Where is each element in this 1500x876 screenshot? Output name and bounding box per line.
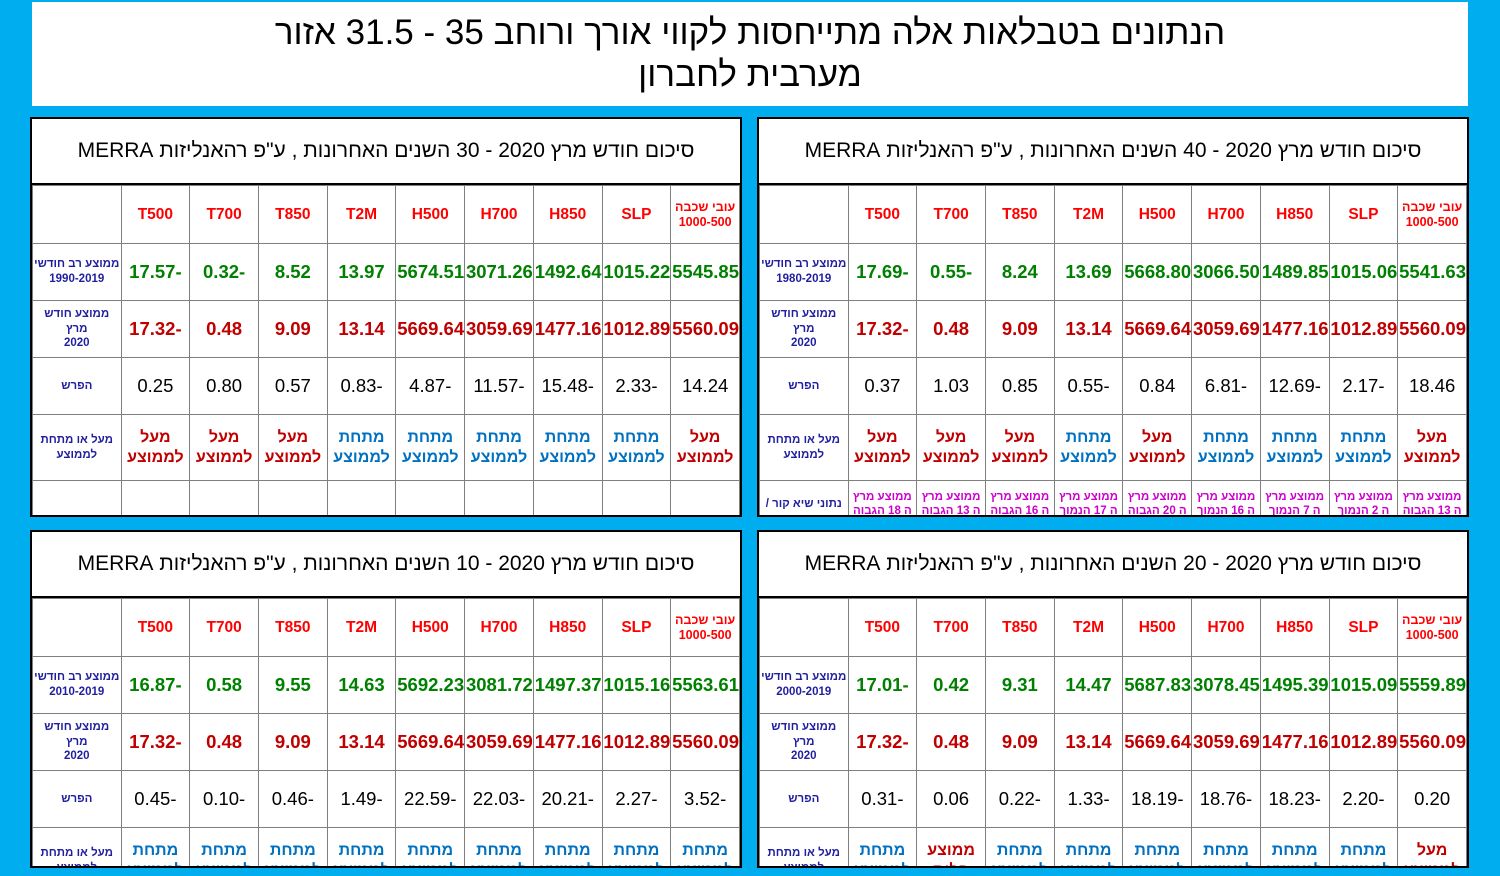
column-header-slp: SLP bbox=[1329, 186, 1398, 244]
table-panel-40y: סיכום חודש מרץ 2020 - 40 השנים האחרונות … bbox=[757, 117, 1469, 517]
column-header-t700: T700 bbox=[190, 186, 259, 244]
value-cell: 1477.16 bbox=[1260, 714, 1329, 771]
value-cell: 1477.16 bbox=[533, 714, 602, 771]
table-row: מעל לממוצעמתחת לממוצעמתחת לממוצעמתחת לממ… bbox=[33, 415, 740, 481]
value-cell: 5545.85 bbox=[671, 244, 740, 301]
value-cell: 5668.80 bbox=[1123, 244, 1192, 301]
state-cell: מתחת לממוצע bbox=[1192, 828, 1261, 869]
value-cell: 3081.72 bbox=[465, 657, 534, 714]
row-label: ממוצע רב חודשי 1980-2019 bbox=[760, 244, 849, 301]
state-cell: מתחת לממוצע bbox=[327, 415, 396, 481]
value-cell: 1015.06 bbox=[1329, 244, 1398, 301]
value-cell: -16.87 bbox=[121, 657, 190, 714]
value-cell: -12.69 bbox=[1260, 358, 1329, 415]
value-cell: 0.42 bbox=[917, 657, 986, 714]
state-cell: מתחת לממוצע bbox=[396, 828, 465, 869]
column-header-t850: T850 bbox=[258, 599, 327, 657]
value-cell: 1015.22 bbox=[602, 244, 671, 301]
row-label: הפרש bbox=[760, 771, 849, 828]
value-cell: 3066.50 bbox=[1192, 244, 1261, 301]
value-cell bbox=[396, 481, 465, 518]
state-cell: מתחת לממוצע bbox=[533, 415, 602, 481]
value-cell bbox=[533, 481, 602, 518]
table-body: עובי שכבה 1000-500SLPH850H700H500T2MT850… bbox=[33, 186, 740, 518]
value-cell: 5669.64 bbox=[1123, 714, 1192, 771]
value-cell: 14.24 bbox=[671, 358, 740, 415]
table-header-row: עובי שכבה 1000-500SLPH850H700H500T2MT850… bbox=[760, 186, 1467, 244]
row-label: מעל או מתחת לממוצע bbox=[760, 828, 849, 869]
value-cell: 0.48 bbox=[190, 301, 259, 358]
value-cell: 13.69 bbox=[1054, 244, 1123, 301]
row-label bbox=[33, 481, 122, 518]
column-header-t500: T500 bbox=[121, 186, 190, 244]
table-body: עובי שכבה 1000-500SLPH850H700H500T2MT850… bbox=[760, 186, 1467, 518]
value-cell: 5674.51 bbox=[396, 244, 465, 301]
value-cell: -6.81 bbox=[1192, 358, 1261, 415]
table-title: סיכום חודש מרץ 2020 - 20 השנים האחרונות … bbox=[759, 532, 1467, 598]
value-cell: 5560.09 bbox=[671, 301, 740, 358]
state-cell: מתחת לממוצע bbox=[465, 828, 534, 869]
value-cell: 0.57 bbox=[258, 358, 327, 415]
value-cell: -17.32 bbox=[848, 714, 917, 771]
table-row: 5560.091012.891477.163059.695669.6413.14… bbox=[760, 301, 1467, 358]
value-cell: 3059.69 bbox=[1192, 714, 1261, 771]
table-header-row: עובי שכבה 1000-500SLPH850H700H500T2MT850… bbox=[33, 186, 740, 244]
row-label: ממוצע חודש מרץ 2020 bbox=[33, 301, 122, 358]
table-panel-20y: סיכום חודש מרץ 2020 - 20 השנים האחרונות … bbox=[757, 530, 1469, 868]
row-label: ממוצע רב חודשי 2000-2019 bbox=[760, 657, 849, 714]
value-cell: 1012.89 bbox=[1329, 301, 1398, 358]
value-cell: -11.57 bbox=[465, 358, 534, 415]
value-cell bbox=[327, 481, 396, 518]
state-cell: מתחת לממוצע bbox=[1054, 415, 1123, 481]
state-cell: מתחת לממוצע bbox=[1123, 828, 1192, 869]
value-cell: -0.10 bbox=[190, 771, 259, 828]
value-cell: -1.33 bbox=[1054, 771, 1123, 828]
table-row: ממוצע מרץ ה 13 הגבוה ביותרממוצע מרץ ה 2 … bbox=[760, 481, 1467, 518]
value-cell: 8.24 bbox=[985, 244, 1054, 301]
column-header-h700: H700 bbox=[1192, 599, 1261, 657]
column-header-t850: T850 bbox=[985, 599, 1054, 657]
state-cell: מעל לממוצע bbox=[121, 415, 190, 481]
column-header-label bbox=[760, 599, 849, 657]
value-cell: 5669.64 bbox=[396, 714, 465, 771]
value-cell: 1477.16 bbox=[1260, 301, 1329, 358]
state-cell: מעל לממוצע bbox=[848, 415, 917, 481]
column-header-t700: T700 bbox=[917, 599, 986, 657]
value-cell bbox=[602, 481, 671, 518]
value-cell: 1012.89 bbox=[1329, 714, 1398, 771]
table-row: מעל לממוצעמתחת לממוצעמתחת לממוצעמתחת לממ… bbox=[760, 828, 1467, 869]
column-header-t2m: T2M bbox=[1054, 599, 1123, 657]
column-header-t700: T700 bbox=[917, 186, 986, 244]
value-cell: 1015.16 bbox=[602, 657, 671, 714]
state-cell: מתחת לממוצע bbox=[1260, 415, 1329, 481]
state-cell: מעל לממוצע bbox=[917, 415, 986, 481]
value-cell: 9.55 bbox=[258, 657, 327, 714]
value-cell: -15.48 bbox=[533, 358, 602, 415]
value-cell: 8.52 bbox=[258, 244, 327, 301]
value-cell: -0.32 bbox=[190, 244, 259, 301]
record-note-cell: ממוצע מרץ ה 7 הנמוך ביותר bbox=[1260, 481, 1329, 518]
value-cell: 14.47 bbox=[1054, 657, 1123, 714]
state-cell: מתחת לממוצע bbox=[848, 828, 917, 869]
row-label: מעל או מתחת לממוצע bbox=[760, 415, 849, 481]
table-row: 5560.091012.891477.163059.695669.6413.14… bbox=[33, 301, 740, 358]
value-cell: 3059.69 bbox=[1192, 301, 1261, 358]
value-cell: -18.76 bbox=[1192, 771, 1261, 828]
value-cell: 5687.83 bbox=[1123, 657, 1192, 714]
state-cell: ממוצע פלוס bbox=[917, 828, 986, 869]
value-cell: -2.17 bbox=[1329, 358, 1398, 415]
column-header-h850: H850 bbox=[1260, 186, 1329, 244]
value-cell: -0.46 bbox=[258, 771, 327, 828]
column-header-h700: H700 bbox=[1192, 186, 1261, 244]
column-header-h500: H500 bbox=[396, 186, 465, 244]
table-body: עובי שכבה 1000-500SLPH850H700H500T2MT850… bbox=[33, 599, 740, 869]
value-cell: 14.63 bbox=[327, 657, 396, 714]
row-label: נתוני שיא קור / חום bbox=[760, 481, 849, 518]
table-title: סיכום חודש מרץ 2020 - 40 השנים האחרונות … bbox=[759, 119, 1467, 185]
column-header-h700: H700 bbox=[465, 186, 534, 244]
value-cell: -4.87 bbox=[396, 358, 465, 415]
table-row: 5560.091012.891477.163059.695669.6413.14… bbox=[760, 714, 1467, 771]
state-cell: מתחת לממוצע bbox=[671, 828, 740, 869]
value-cell: 5560.09 bbox=[1398, 714, 1467, 771]
value-cell: 9.31 bbox=[985, 657, 1054, 714]
value-cell: 0.06 bbox=[917, 771, 986, 828]
value-cell: -18.23 bbox=[1260, 771, 1329, 828]
value-cell: 1015.09 bbox=[1329, 657, 1398, 714]
record-note-cell: ממוצע מרץ ה 17 הנמוך ביותר bbox=[1054, 481, 1123, 518]
summary-table: עובי שכבה 1000-500SLPH850H700H500T2MT850… bbox=[32, 598, 740, 868]
row-label: מעל או מתחת לממוצע bbox=[33, 828, 122, 869]
summary-table: עובי שכבה 1000-500SLPH850H700H500T2MT850… bbox=[759, 598, 1467, 868]
summary-table: עובי שכבה 1000-500SLPH850H700H500T2MT850… bbox=[32, 185, 740, 517]
value-cell: -20.21 bbox=[533, 771, 602, 828]
value-cell bbox=[465, 481, 534, 518]
row-label: מעל או מתחת לממוצע bbox=[33, 415, 122, 481]
column-header-thickness: עובי שכבה 1000-500 bbox=[671, 599, 740, 657]
value-cell: 1012.89 bbox=[602, 301, 671, 358]
value-cell: 13.14 bbox=[1054, 301, 1123, 358]
value-cell: 5669.64 bbox=[396, 301, 465, 358]
row-label: ממוצע חודש מרץ 2020 bbox=[760, 714, 849, 771]
value-cell: 18.46 bbox=[1398, 358, 1467, 415]
row-label: הפרש bbox=[33, 771, 122, 828]
column-header-h850: H850 bbox=[533, 186, 602, 244]
page-banner: הנתונים בטבלאות אלה מתייחסות לקווי אורך … bbox=[32, 2, 1468, 106]
column-header-t500: T500 bbox=[848, 186, 917, 244]
value-cell: 0.20 bbox=[1398, 771, 1467, 828]
column-header-t2m: T2M bbox=[327, 186, 396, 244]
column-header-h500: H500 bbox=[1123, 599, 1192, 657]
value-cell: 0.48 bbox=[917, 714, 986, 771]
state-cell: מעל לממוצע bbox=[985, 415, 1054, 481]
state-cell: מתחת לממוצע bbox=[533, 828, 602, 869]
value-cell: 13.14 bbox=[1054, 714, 1123, 771]
state-cell: מתחת לממוצע bbox=[258, 828, 327, 869]
column-header-h500: H500 bbox=[396, 599, 465, 657]
value-cell: 0.85 bbox=[985, 358, 1054, 415]
value-cell: -0.31 bbox=[848, 771, 917, 828]
value-cell: -0.55 bbox=[917, 244, 986, 301]
state-cell: מתחת לממוצע bbox=[396, 415, 465, 481]
summary-table: עובי שכבה 1000-500SLPH850H700H500T2MT850… bbox=[759, 185, 1467, 517]
value-cell: -0.55 bbox=[1054, 358, 1123, 415]
value-cell: 5560.09 bbox=[1398, 301, 1467, 358]
state-cell: מתחת לממוצע bbox=[602, 828, 671, 869]
table-row: 5559.891015.091495.393078.455687.8314.47… bbox=[760, 657, 1467, 714]
column-header-slp: SLP bbox=[602, 186, 671, 244]
state-cell: מתחת לממוצע bbox=[190, 828, 259, 869]
value-cell: -22.03 bbox=[465, 771, 534, 828]
row-label: הפרש bbox=[33, 358, 122, 415]
value-cell: 3059.69 bbox=[465, 301, 534, 358]
value-cell: 0.80 bbox=[190, 358, 259, 415]
record-note-cell: ממוצע מרץ ה 16 הגבוה ביותר bbox=[985, 481, 1054, 518]
value-cell: 5563.61 bbox=[671, 657, 740, 714]
state-cell: מתחת לממוצע bbox=[1260, 828, 1329, 869]
record-note-cell: ממוצע מרץ ה 13 הגבוה ביותר bbox=[917, 481, 986, 518]
value-cell: 5560.09 bbox=[671, 714, 740, 771]
table-row: מתחת לממוצעמתחת לממוצעמתחת לממוצעמתחת למ… bbox=[33, 828, 740, 869]
value-cell: 1012.89 bbox=[602, 714, 671, 771]
value-cell: 5692.23 bbox=[396, 657, 465, 714]
table-panel-10y: סיכום חודש מרץ 2020 - 10 השנים האחרונות … bbox=[30, 530, 742, 868]
value-cell: -0.83 bbox=[327, 358, 396, 415]
value-cell: -0.22 bbox=[985, 771, 1054, 828]
table-title: סיכום חודש מרץ 2020 - 10 השנים האחרונות … bbox=[32, 532, 740, 598]
value-cell: 1489.85 bbox=[1260, 244, 1329, 301]
value-cell: 5559.89 bbox=[1398, 657, 1467, 714]
value-cell bbox=[258, 481, 327, 518]
state-cell: מתחת לממוצע bbox=[1054, 828, 1123, 869]
value-cell: 1477.16 bbox=[533, 301, 602, 358]
column-header-t850: T850 bbox=[985, 186, 1054, 244]
row-label: הפרש bbox=[760, 358, 849, 415]
column-header-t500: T500 bbox=[121, 599, 190, 657]
column-header-thickness: עובי שכבה 1000-500 bbox=[671, 186, 740, 244]
value-cell: 1492.64 bbox=[533, 244, 602, 301]
value-cell: 9.09 bbox=[985, 714, 1054, 771]
state-cell: מתחת לממוצע bbox=[1329, 828, 1398, 869]
column-header-t700: T700 bbox=[190, 599, 259, 657]
table-row: 14.24-2.33-15.48-11.57-4.87-0.830.570.80… bbox=[33, 358, 740, 415]
banner-text: הנתונים בטבלאות אלה מתייחסות לקווי אורך … bbox=[275, 12, 1225, 96]
column-header-thickness: עובי שכבה 1000-500 bbox=[1398, 186, 1467, 244]
state-cell: מעל לממוצע bbox=[1398, 828, 1467, 869]
table-row: -3.52-2.27-20.21-22.03-22.59-1.49-0.46-0… bbox=[33, 771, 740, 828]
value-cell: -18.19 bbox=[1123, 771, 1192, 828]
column-header-t850: T850 bbox=[258, 186, 327, 244]
column-header-t500: T500 bbox=[848, 599, 917, 657]
row-label: ממוצע חודש מרץ 2020 bbox=[33, 714, 122, 771]
state-cell: מתחת לממוצע bbox=[985, 828, 1054, 869]
value-cell: 13.14 bbox=[327, 714, 396, 771]
record-note-cell: ממוצע מרץ ה 2 הנמוך ביותר bbox=[1329, 481, 1398, 518]
value-cell: 0.84 bbox=[1123, 358, 1192, 415]
table-body: עובי שכבה 1000-500SLPH850H700H500T2MT850… bbox=[760, 599, 1467, 869]
value-cell: -17.32 bbox=[848, 301, 917, 358]
value-cell: -17.69 bbox=[848, 244, 917, 301]
value-cell: 5669.64 bbox=[1123, 301, 1192, 358]
column-header-slp: SLP bbox=[602, 599, 671, 657]
column-header-h850: H850 bbox=[1260, 599, 1329, 657]
table-row: 5545.851015.221492.643071.265674.5113.97… bbox=[33, 244, 740, 301]
column-header-label bbox=[33, 186, 122, 244]
value-cell: -22.59 bbox=[396, 771, 465, 828]
column-header-slp: SLP bbox=[1329, 599, 1398, 657]
column-header-label bbox=[760, 186, 849, 244]
state-cell: מתחת לממוצע bbox=[465, 415, 534, 481]
column-header-thickness: עובי שכבה 1000-500 bbox=[1398, 599, 1467, 657]
table-header-row: עובי שכבה 1000-500SLPH850H700H500T2MT850… bbox=[760, 599, 1467, 657]
value-cell: 5541.63 bbox=[1398, 244, 1467, 301]
value-cell: -17.01 bbox=[848, 657, 917, 714]
state-cell: מעל לממוצע bbox=[190, 415, 259, 481]
value-cell: -2.20 bbox=[1329, 771, 1398, 828]
state-cell: מעל לממוצע bbox=[671, 415, 740, 481]
value-cell: -17.32 bbox=[121, 714, 190, 771]
state-cell: מתחת לממוצע bbox=[1329, 415, 1398, 481]
state-cell: מתחת לממוצע bbox=[327, 828, 396, 869]
value-cell: -2.27 bbox=[602, 771, 671, 828]
value-cell: -0.45 bbox=[121, 771, 190, 828]
record-note-cell: ממוצע מרץ ה 16 הנמוך ביותר bbox=[1192, 481, 1261, 518]
value-cell: 3071.26 bbox=[465, 244, 534, 301]
value-cell: 9.09 bbox=[985, 301, 1054, 358]
table-row: 5560.091012.891477.163059.695669.6413.14… bbox=[33, 714, 740, 771]
column-header-t2m: T2M bbox=[327, 599, 396, 657]
state-cell: מתחת לממוצע bbox=[602, 415, 671, 481]
value-cell: 1.03 bbox=[917, 358, 986, 415]
record-note-cell: ממוצע מרץ ה 18 הגבוה ביותר bbox=[848, 481, 917, 518]
value-cell: 13.14 bbox=[327, 301, 396, 358]
value-cell: 3059.69 bbox=[465, 714, 534, 771]
state-cell: מעל לממוצע bbox=[258, 415, 327, 481]
value-cell: 1497.37 bbox=[533, 657, 602, 714]
column-header-label bbox=[33, 599, 122, 657]
value-cell: -3.52 bbox=[671, 771, 740, 828]
column-header-h850: H850 bbox=[533, 599, 602, 657]
column-header-h500: H500 bbox=[1123, 186, 1192, 244]
table-row bbox=[33, 481, 740, 518]
value-cell: 0.48 bbox=[190, 714, 259, 771]
value-cell: -1.49 bbox=[327, 771, 396, 828]
column-header-h700: H700 bbox=[465, 599, 534, 657]
value-cell: -17.57 bbox=[121, 244, 190, 301]
state-cell: מתחת לממוצע bbox=[1192, 415, 1261, 481]
row-label: ממוצע חודש מרץ 2020 bbox=[760, 301, 849, 358]
value-cell: 3078.45 bbox=[1192, 657, 1261, 714]
table-row: 5563.611015.161497.373081.725692.2314.63… bbox=[33, 657, 740, 714]
table-row: 18.46-2.17-12.69-6.810.84-0.550.851.030.… bbox=[760, 358, 1467, 415]
table-row: 5541.631015.061489.853066.505668.8013.69… bbox=[760, 244, 1467, 301]
value-cell bbox=[190, 481, 259, 518]
column-header-t2m: T2M bbox=[1054, 186, 1123, 244]
value-cell bbox=[671, 481, 740, 518]
value-cell: 0.48 bbox=[917, 301, 986, 358]
value-cell: 0.37 bbox=[848, 358, 917, 415]
value-cell: 9.09 bbox=[258, 714, 327, 771]
table-panel-30y: סיכום חודש מרץ 2020 - 30 השנים האחרונות … bbox=[30, 117, 742, 517]
value-cell bbox=[121, 481, 190, 518]
table-row: 0.20-2.20-18.23-18.76-18.19-1.33-0.220.0… bbox=[760, 771, 1467, 828]
record-note-cell: ממוצע מרץ ה 20 הגבוה ביותר bbox=[1123, 481, 1192, 518]
record-note-cell: ממוצע מרץ ה 13 הגבוה ביותר bbox=[1398, 481, 1467, 518]
row-label: ממוצע רב חודשי 2010-2019 bbox=[33, 657, 122, 714]
value-cell: -2.33 bbox=[602, 358, 671, 415]
table-title: סיכום חודש מרץ 2020 - 30 השנים האחרונות … bbox=[32, 119, 740, 185]
value-cell: 0.58 bbox=[190, 657, 259, 714]
value-cell: 0.25 bbox=[121, 358, 190, 415]
state-cell: מעל לממוצע bbox=[1398, 415, 1467, 481]
state-cell: מתחת לממוצע bbox=[121, 828, 190, 869]
value-cell: 1495.39 bbox=[1260, 657, 1329, 714]
value-cell: 13.97 bbox=[327, 244, 396, 301]
table-row: מעל לממוצעמתחת לממוצעמתחת לממוצעמתחת לממ… bbox=[760, 415, 1467, 481]
row-label: ממוצע רב חודשי 1990-2019 bbox=[33, 244, 122, 301]
table-header-row: עובי שכבה 1000-500SLPH850H700H500T2MT850… bbox=[33, 599, 740, 657]
value-cell: -17.32 bbox=[121, 301, 190, 358]
state-cell: מעל לממוצע bbox=[1123, 415, 1192, 481]
value-cell: 9.09 bbox=[258, 301, 327, 358]
